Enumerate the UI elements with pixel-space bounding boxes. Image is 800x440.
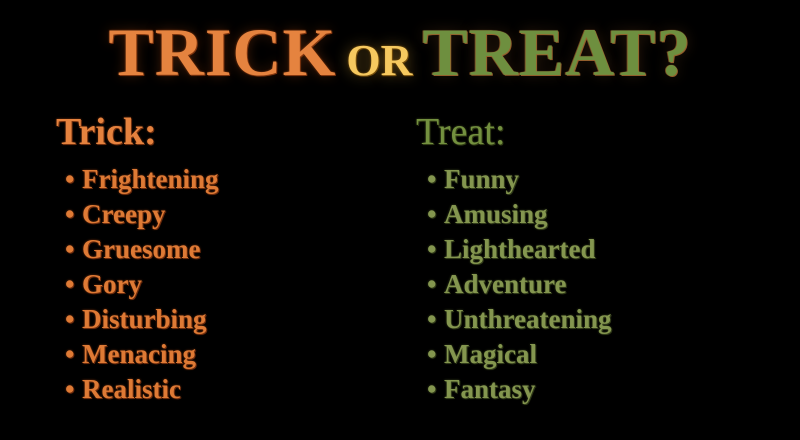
list-item: •Amusing bbox=[444, 197, 776, 232]
list-item: •Menacing bbox=[82, 337, 396, 372]
slide-title: TRICKORTREAT? bbox=[0, 18, 800, 86]
column-heading-trick: Trick: bbox=[56, 110, 396, 154]
title-word-trick: TRICK bbox=[108, 18, 336, 86]
bullet-icon: • bbox=[427, 302, 436, 337]
list-item: •Lighthearted bbox=[444, 232, 776, 267]
title-word-or: OR bbox=[346, 39, 412, 83]
column-treat: Treat: •Funny •Amusing •Lighthearted •Ad… bbox=[416, 110, 776, 407]
list-item: •Realistic bbox=[82, 372, 396, 407]
list-item: •Disturbing bbox=[82, 302, 396, 337]
columns-container: Trick: •Frightening •Creepy •Gruesome •G… bbox=[0, 110, 800, 430]
bullet-icon: • bbox=[427, 372, 436, 407]
bullet-icon: • bbox=[427, 267, 436, 302]
list-item: •Gory bbox=[82, 267, 396, 302]
bullet-icon: • bbox=[427, 337, 436, 372]
list-item-label: Realistic bbox=[82, 374, 181, 404]
list-treat: •Funny •Amusing •Lighthearted •Adventure… bbox=[416, 162, 776, 407]
title-word-treat: TREAT? bbox=[422, 18, 691, 86]
list-item-label: Lighthearted bbox=[444, 234, 596, 264]
bullet-icon: • bbox=[427, 162, 436, 197]
list-item-label: Amusing bbox=[444, 199, 548, 229]
list-item-label: Menacing bbox=[82, 339, 196, 369]
list-item: •Magical bbox=[444, 337, 776, 372]
list-item-label: Frightening bbox=[82, 164, 219, 194]
bullet-icon: • bbox=[65, 197, 74, 232]
bullet-icon: • bbox=[427, 232, 436, 267]
list-item: •Frightening bbox=[82, 162, 396, 197]
list-item-label: Magical bbox=[444, 339, 537, 369]
list-item: •Unthreatening bbox=[444, 302, 776, 337]
list-item: •Gruesome bbox=[82, 232, 396, 267]
list-item-label: Gruesome bbox=[82, 234, 200, 264]
list-item-label: Fantasy bbox=[444, 374, 536, 404]
bullet-icon: • bbox=[65, 232, 74, 267]
bullet-icon: • bbox=[65, 162, 74, 197]
column-trick: Trick: •Frightening •Creepy •Gruesome •G… bbox=[56, 110, 396, 407]
bullet-icon: • bbox=[65, 337, 74, 372]
list-item: •Fantasy bbox=[444, 372, 776, 407]
list-item: •Adventure bbox=[444, 267, 776, 302]
list-item: •Funny bbox=[444, 162, 776, 197]
bullet-icon: • bbox=[65, 267, 74, 302]
list-item: •Creepy bbox=[82, 197, 396, 232]
slide-canvas: TRICKORTREAT? Trick: •Frightening •Creep… bbox=[0, 0, 800, 440]
bullet-icon: • bbox=[65, 302, 74, 337]
list-item-label: Funny bbox=[444, 164, 519, 194]
list-item-label: Adventure bbox=[444, 269, 567, 299]
column-heading-treat: Treat: bbox=[416, 110, 776, 154]
bullet-icon: • bbox=[65, 372, 74, 407]
list-item-label: Disturbing bbox=[82, 304, 207, 334]
list-item-label: Gory bbox=[82, 269, 142, 299]
bullet-icon: • bbox=[427, 197, 436, 232]
list-item-label: Unthreatening bbox=[444, 304, 612, 334]
list-trick: •Frightening •Creepy •Gruesome •Gory •Di… bbox=[56, 162, 396, 407]
list-item-label: Creepy bbox=[82, 199, 165, 229]
